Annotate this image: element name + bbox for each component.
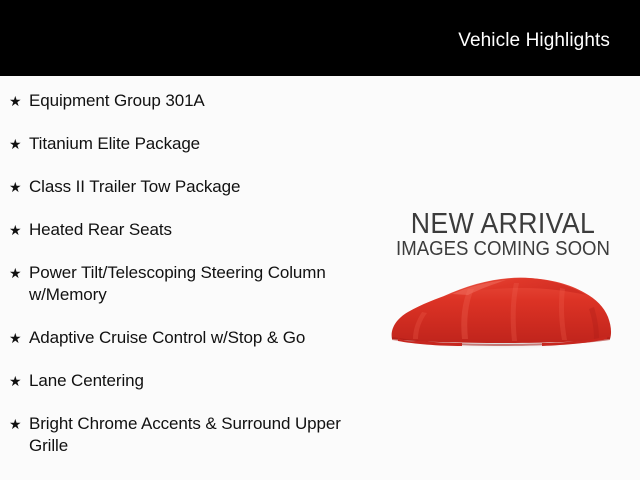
covered-car-image: [382, 267, 622, 352]
star-bullet-icon: ★: [9, 262, 29, 284]
star-bullet-icon: ★: [9, 327, 29, 349]
new-arrival-graphic: NEW ARRIVAL IMAGES COMING SOON: [380, 205, 626, 355]
list-item-label: Titanium Elite Package: [29, 133, 360, 155]
star-bullet-icon: ★: [9, 370, 29, 392]
covered-car-icon: [382, 267, 622, 352]
vehicle-highlights-page: Vehicle Highlights ★ Equipment Group 301…: [0, 0, 640, 480]
list-item: ★ Titanium Elite Package: [0, 133, 368, 155]
list-item-label: Equipment Group 301A: [29, 90, 360, 112]
star-bullet-icon: ★: [9, 176, 29, 198]
images-coming-soon-subheading: IMAGES COMING SOON: [389, 238, 618, 260]
list-item: ★ Bright Chrome Accents & Surround Upper…: [0, 413, 368, 457]
list-item: ★ Equipment Group 301A: [0, 90, 368, 112]
list-item: ★ Heated Rear Seats: [0, 219, 368, 241]
list-item-label: Adaptive Cruise Control w/Stop & Go: [29, 327, 360, 349]
star-bullet-icon: ★: [9, 413, 29, 435]
page-header: Vehicle Highlights: [0, 0, 640, 76]
vehicle-highlights-list: ★ Equipment Group 301A ★ Titanium Elite …: [0, 76, 368, 478]
page-title: Vehicle Highlights: [458, 30, 640, 76]
list-item-label: Class II Trailer Tow Package: [29, 176, 360, 198]
list-item-label: Heated Rear Seats: [29, 219, 360, 241]
list-item-label: Bright Chrome Accents & Surround Upper G…: [29, 413, 360, 457]
list-item: ★ Class II Trailer Tow Package: [0, 176, 368, 198]
star-bullet-icon: ★: [9, 90, 29, 112]
list-item: ★ Power Tilt/Telescoping Steering Column…: [0, 262, 368, 306]
list-item: ★ Lane Centering: [0, 370, 368, 392]
list-item-label: Power Tilt/Telescoping Steering Column w…: [29, 262, 360, 306]
list-item: ★ Adaptive Cruise Control w/Stop & Go: [0, 327, 368, 349]
list-item-label: Lane Centering: [29, 370, 360, 392]
star-bullet-icon: ★: [9, 219, 29, 241]
star-bullet-icon: ★: [9, 133, 29, 155]
new-arrival-heading: NEW ARRIVAL: [390, 209, 616, 239]
